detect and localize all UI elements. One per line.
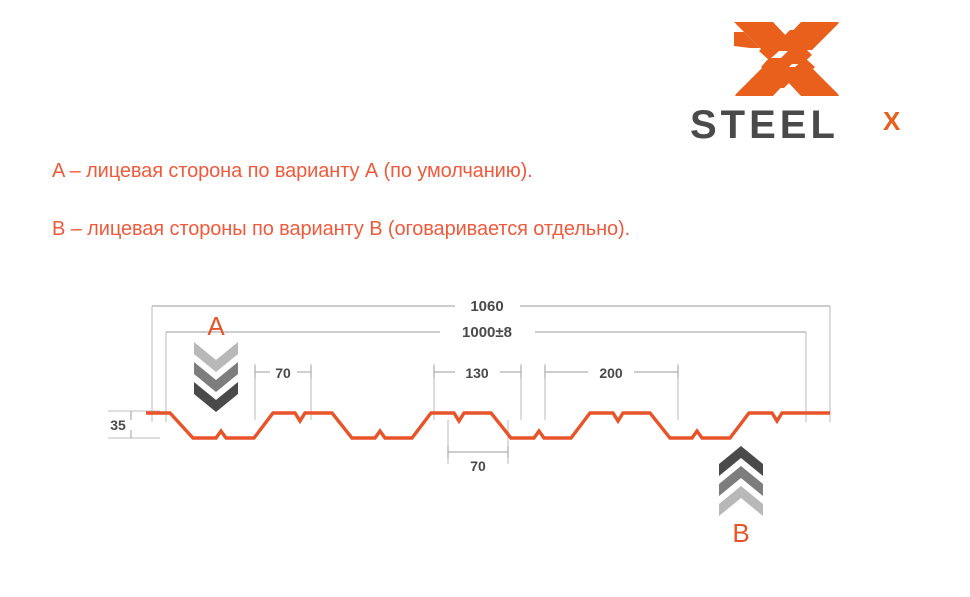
marker-a-label: A: [207, 311, 225, 341]
steelx-x-logo-mark: [732, 18, 842, 100]
dimension-label-1060: 1060: [470, 298, 503, 315]
dimension-label-130: 130: [465, 365, 489, 381]
caption-variant-a: A – лицевая сторона по варианту А (по ум…: [52, 160, 533, 183]
steelx-wordmark: STEEL X: [690, 104, 940, 146]
face-variant-b-marker: B: [719, 446, 763, 548]
caption-variant-b: B – лицевая стороны по варианту B (огова…: [52, 218, 630, 241]
face-variant-a-marker: A: [194, 311, 238, 412]
dimension-label-35: 35: [110, 417, 126, 433]
brand-logo: STEEL X: [690, 18, 940, 143]
profile-cross-section-path: [146, 413, 830, 438]
dimension-label-1000: 1000±8: [462, 324, 512, 341]
profile-technical-drawing: 1060 1000±8 70 130 200 70 35 A B: [0, 280, 970, 570]
dimension-label-70-bottom: 70: [470, 458, 486, 474]
dimension-label-70-top: 70: [275, 365, 291, 381]
marker-b-label: B: [732, 518, 749, 548]
dimension-label-200: 200: [599, 365, 623, 381]
wordmark-x-superscript: X: [883, 106, 901, 136]
wordmark-steel-text: STEEL: [690, 104, 839, 146]
